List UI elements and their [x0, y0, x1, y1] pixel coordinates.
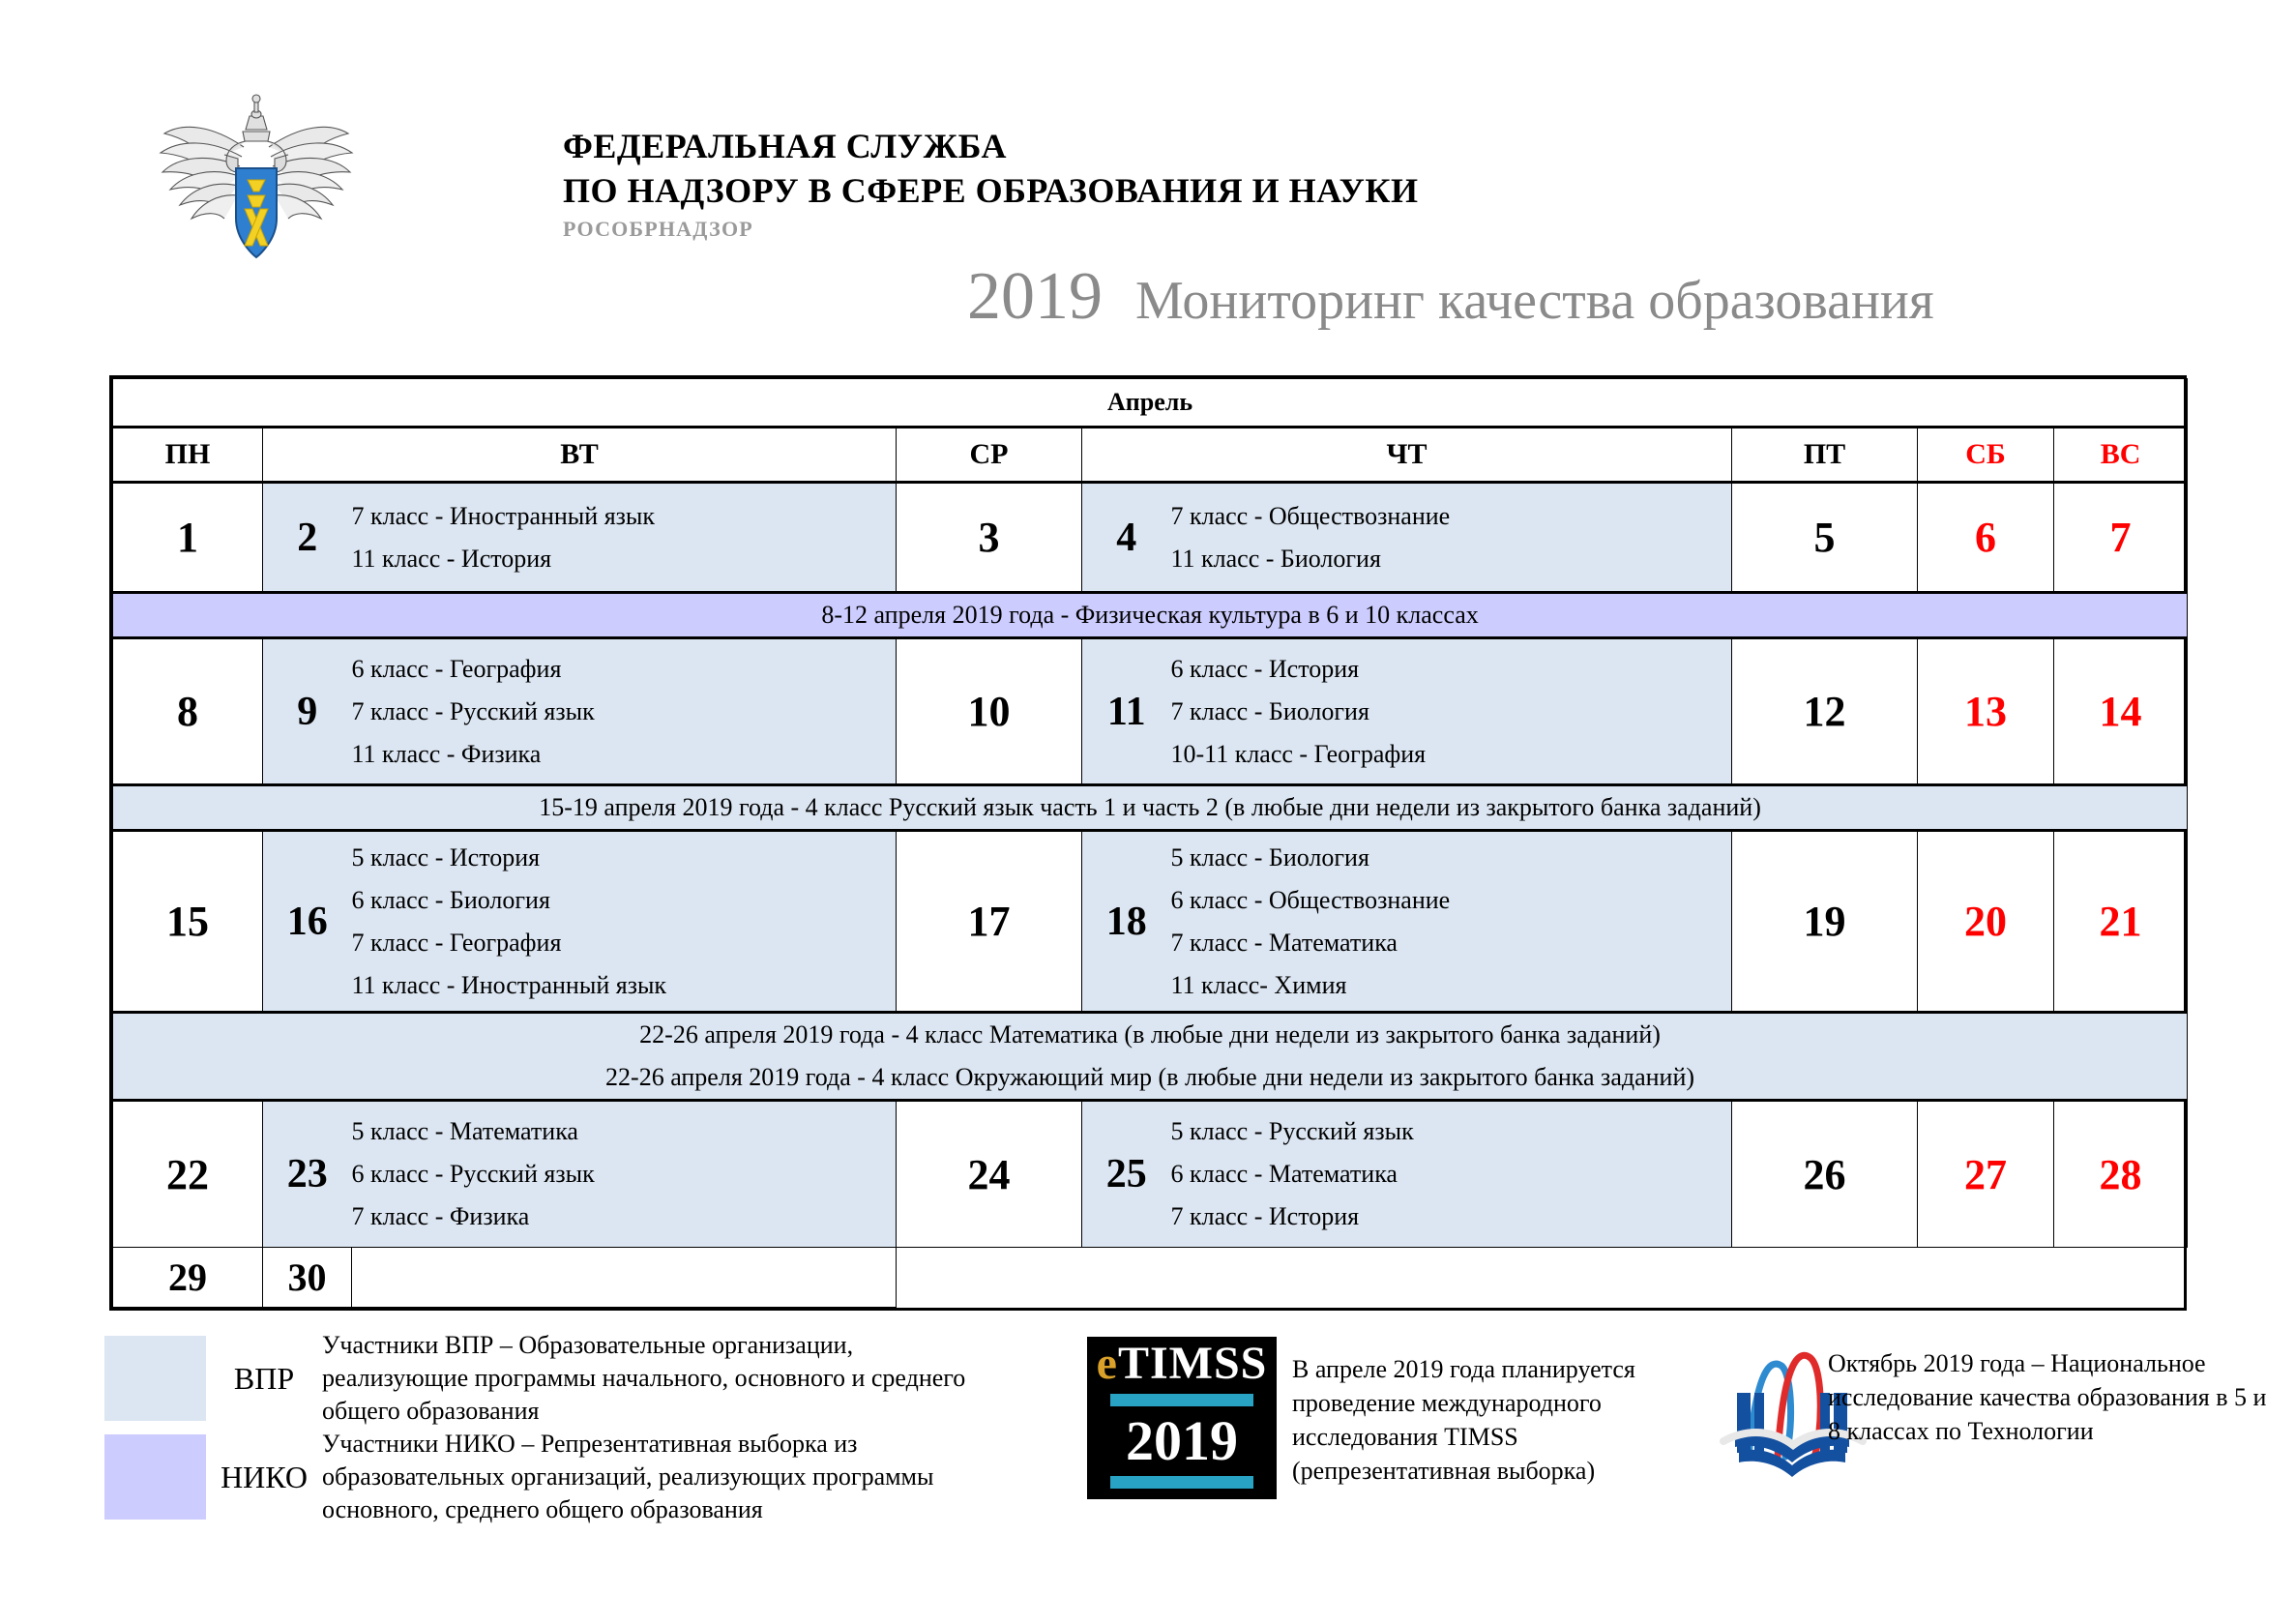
day-cell-11[interactable]: 11 — [1082, 638, 1171, 785]
dow-thu: ЧТ — [1082, 428, 1732, 483]
russian-double-headed-eagle-emblem — [145, 87, 368, 266]
day-16-subjects: 5 класс - История 6 класс - Биология 7 к… — [352, 831, 897, 1013]
april-calendar: Апрель ПН ВТ СР ЧТ ПТ СБ ВС 1 2 7 класс … — [109, 375, 2187, 1311]
subject-item: 7 класс - Иностранный язык — [352, 495, 897, 538]
subject-item: 11 класс - Иностранный язык — [352, 964, 897, 1007]
day-cell-28[interactable]: 28 — [2054, 1101, 2188, 1248]
day-cell-27[interactable]: 27 — [1918, 1101, 2054, 1248]
day-cell-3[interactable]: 3 — [897, 483, 1082, 593]
subject-item: 6 класс - География — [352, 648, 897, 691]
day-cell-22[interactable]: 22 — [113, 1101, 263, 1248]
page-title: 2019 Мониторинг качества образования — [967, 263, 1934, 331]
dow-fri: ПТ — [1732, 428, 1918, 483]
subject-item: 7 класс - Физика — [352, 1196, 897, 1238]
day-4-subjects: 7 класс - Обществознание 11 класс - Биол… — [1171, 483, 1732, 593]
timss-logo-year: 2019 — [1126, 1413, 1238, 1469]
day-cell-2[interactable]: 2 — [263, 483, 352, 593]
subject-item: 5 класс - Биология — [1171, 837, 1732, 879]
timss-bar-top — [1110, 1394, 1253, 1406]
calendar-week-row: 8 9 6 класс - География 7 класс - Русски… — [113, 638, 2188, 785]
empty-cell — [1918, 1248, 2054, 1308]
calendar-banner-row: 15-19 апреля 2019 года - 4 класс Русский… — [113, 785, 2188, 831]
day-cell-15[interactable]: 15 — [113, 831, 263, 1013]
day-cell-13[interactable]: 13 — [1918, 638, 2054, 785]
subject-item: 6 класс - Обществознание — [1171, 879, 1732, 922]
dow-sun: ВС — [2054, 428, 2188, 483]
dow-tue: ВТ — [263, 428, 897, 483]
legend-swatch-niko — [104, 1434, 206, 1520]
empty-cell — [2054, 1248, 2188, 1308]
legend-text-vpr: Участники ВПР – Образовательные организа… — [322, 1329, 999, 1428]
day-cell-17[interactable]: 17 — [897, 831, 1082, 1013]
subject-item: 6 класс - История — [1171, 648, 1732, 691]
day-cell-23[interactable]: 23 — [263, 1101, 352, 1248]
day-9-subjects: 6 класс - География 7 класс - Русский яз… — [352, 638, 897, 785]
page-footer: ВПР Участники ВПР – Образовательные орга… — [0, 1325, 2296, 1567]
timss-bar-bottom — [1110, 1476, 1253, 1489]
timss-logo-title: eTIMSS — [1097, 1341, 1268, 1387]
banner-line: 22-26 апреля 2019 года - 4 класс Математ… — [113, 1014, 2187, 1056]
day-cell-12[interactable]: 12 — [1732, 638, 1918, 785]
subject-item: 5 класс - Русский язык — [1171, 1110, 1732, 1153]
day-cell-1[interactable]: 1 — [113, 483, 263, 593]
subject-item: 11 класс- Химия — [1171, 964, 1732, 1007]
legend: ВПР Участники ВПР – Образовательные орга… — [104, 1329, 999, 1526]
empty-cell — [352, 1248, 897, 1308]
calendar-week-row: 29 30 — [113, 1248, 2188, 1308]
day-cell-9[interactable]: 9 — [263, 638, 352, 785]
legend-text-niko: Участники НИКО – Репрезентативная выборк… — [322, 1428, 999, 1526]
calendar-week-row: 22 23 5 класс - Математика 6 класс - Рус… — [113, 1101, 2188, 1248]
legend-key-niko: НИКО — [206, 1460, 322, 1495]
dow-wed: СР — [897, 428, 1082, 483]
empty-cell — [1732, 1248, 1918, 1308]
timss-description: В апреле 2019 года планируется проведени… — [1292, 1352, 1698, 1488]
calendar-banner-row: 22-26 апреля 2019 года - 4 класс Математ… — [113, 1013, 2188, 1101]
organization-name: ФЕДЕРАЛЬНАЯ СЛУЖБА ПО НАДЗОРУ В СФЕРЕ ОБ… — [563, 124, 1419, 242]
subject-item: 5 класс - История — [352, 837, 897, 879]
subject-item: 7 класс - Обществознание — [1171, 495, 1732, 538]
subject-item: 6 класс - Русский язык — [352, 1153, 897, 1196]
legend-key-vpr: ВПР — [206, 1361, 322, 1397]
niko-study-description: Октябрь 2019 года – Национальное исследо… — [1828, 1346, 2282, 1448]
day-2-subjects: 7 класс - Иностранный язык 11 класс - Ис… — [352, 483, 897, 593]
banner-niko-physical-culture: 8-12 апреля 2019 года - Физическая культ… — [113, 593, 2188, 638]
subject-item: 10-11 класс - География — [1171, 733, 1732, 776]
day-cell-10[interactable]: 10 — [897, 638, 1082, 785]
page-header: ФЕДЕРАЛЬНАЯ СЛУЖБА ПО НАДЗОРУ В СФЕРЕ ОБ… — [0, 0, 2296, 368]
title-text: Мониторинг качества образования — [1135, 274, 1934, 328]
day-cell-20[interactable]: 20 — [1918, 831, 2054, 1013]
day-cell-29[interactable]: 29 — [113, 1248, 263, 1308]
subject-item: 7 класс - История — [1171, 1196, 1732, 1238]
day-23-subjects: 5 класс - Математика 6 класс - Русский я… — [352, 1101, 897, 1248]
subject-item: 6 класс - Математика — [1171, 1153, 1732, 1196]
month-label: Апрель — [113, 379, 2188, 428]
day-cell-7[interactable]: 7 — [2054, 483, 2188, 593]
day-cell-5[interactable]: 5 — [1732, 483, 1918, 593]
day-cell-30[interactable]: 30 — [263, 1248, 352, 1308]
timss-block: eTIMSS 2019 — [1087, 1337, 1277, 1499]
legend-row-niko: НИКО Участники НИКО – Репрезентативная в… — [104, 1428, 999, 1526]
org-line-1: ФЕДЕРАЛЬНАЯ СЛУЖБА — [563, 124, 1419, 168]
subject-item: 7 класс - Биология — [1171, 691, 1732, 733]
day-11-subjects: 6 класс - История 7 класс - Биология 10-… — [1171, 638, 1732, 785]
day-cell-21[interactable]: 21 — [2054, 831, 2188, 1013]
day-cell-19[interactable]: 19 — [1732, 831, 1918, 1013]
dow-mon: ПН — [113, 428, 263, 483]
timss-logo-e: e — [1097, 1338, 1118, 1389]
org-abbreviation: РОСОБРНАДЗОР — [563, 217, 1419, 242]
calendar-month-row: Апрель — [113, 379, 2188, 428]
banner-vpr-russian-grade4: 15-19 апреля 2019 года - 4 класс Русский… — [113, 785, 2188, 831]
calendar-week-row: 15 16 5 класс - История 6 класс - Биолог… — [113, 831, 2188, 1013]
calendar-poster: ФЕДЕРАЛЬНАЯ СЛУЖБА ПО НАДЗОРУ В СФЕРЕ ОБ… — [0, 0, 2296, 1624]
org-line-2: ПО НАДЗОРУ В СФЕРЕ ОБРАЗОВАНИЯ И НАУКИ — [563, 168, 1419, 213]
dow-sat: СБ — [1918, 428, 2054, 483]
subject-item: 7 класс - География — [352, 922, 897, 964]
day-cell-26[interactable]: 26 — [1732, 1101, 1918, 1248]
legend-row-vpr: ВПР Участники ВПР – Образовательные орга… — [104, 1329, 999, 1428]
banner-line: 22-26 апреля 2019 года - 4 класс Окружаю… — [113, 1056, 2187, 1099]
day-cell-4[interactable]: 4 — [1082, 483, 1171, 593]
day-18-subjects: 5 класс - Биология 6 класс - Обществозна… — [1171, 831, 1732, 1013]
empty-cell — [897, 1248, 1082, 1308]
calendar-week-row: 1 2 7 класс - Иностранный язык 11 класс … — [113, 483, 2188, 593]
subject-item: 7 класс - Математика — [1171, 922, 1732, 964]
banner-vpr-math-and-world: 22-26 апреля 2019 года - 4 класс Математ… — [113, 1013, 2188, 1101]
timss-logo-name: TIMSS — [1118, 1338, 1267, 1389]
calendar-banner-row: 8-12 апреля 2019 года - Физическая культ… — [113, 593, 2188, 638]
subject-item: 11 класс - Биология — [1171, 538, 1732, 580]
etimss-2019-logo: eTIMSS 2019 — [1087, 1337, 1277, 1499]
subject-item: 6 класс - Биология — [352, 879, 897, 922]
day-cell-16[interactable]: 16 — [263, 831, 352, 1013]
empty-cell — [1171, 1248, 1732, 1308]
day-cell-18[interactable]: 18 — [1082, 831, 1171, 1013]
day-cell-8[interactable]: 8 — [113, 638, 263, 785]
empty-cell — [1082, 1248, 1171, 1308]
legend-swatch-vpr — [104, 1336, 206, 1421]
day-of-week-row: ПН ВТ СР ЧТ ПТ СБ ВС — [113, 428, 2188, 483]
subject-item: 5 класс - Математика — [352, 1110, 897, 1153]
subject-item: 7 класс - Русский язык — [352, 691, 897, 733]
day-cell-24[interactable]: 24 — [897, 1101, 1082, 1248]
subject-item: 11 класс - История — [352, 538, 897, 580]
day-25-subjects: 5 класс - Русский язык 6 класс - Математ… — [1171, 1101, 1732, 1248]
day-cell-25[interactable]: 25 — [1082, 1101, 1171, 1248]
day-cell-6[interactable]: 6 — [1918, 483, 2054, 593]
subject-item: 11 класс - Физика — [352, 733, 897, 776]
title-year: 2019 — [967, 263, 1103, 331]
day-cell-14[interactable]: 14 — [2054, 638, 2188, 785]
